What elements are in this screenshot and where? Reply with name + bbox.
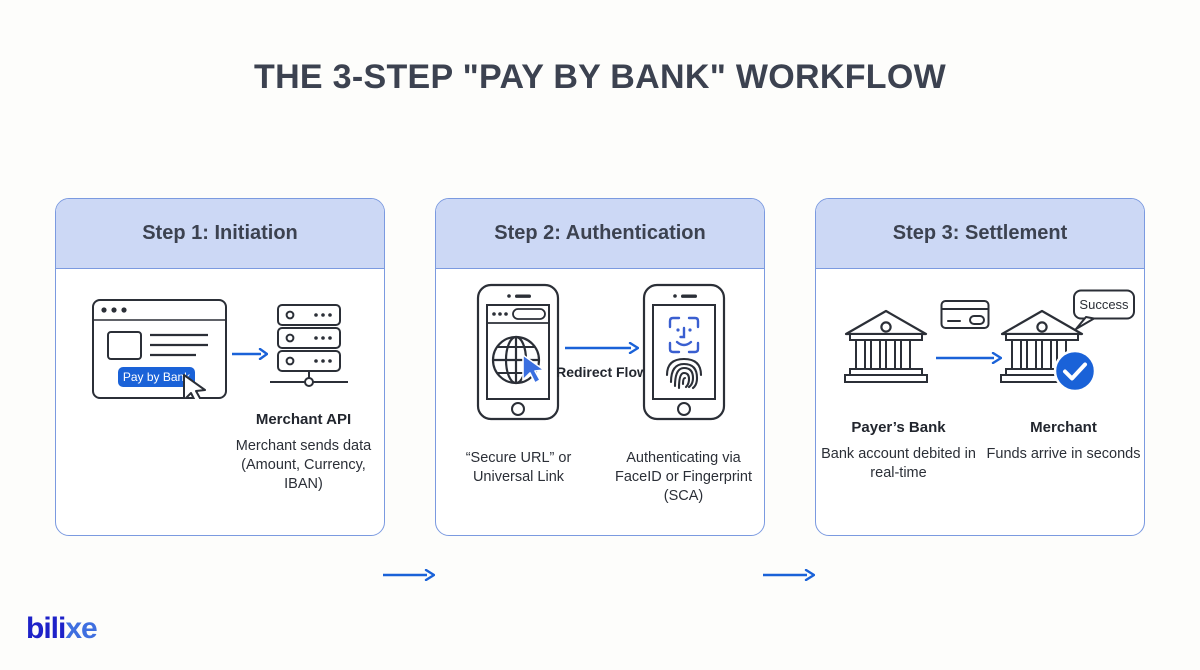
merchant-caption: Funds arrive in seconds	[981, 445, 1145, 464]
redirect-flow-label: Redirect Flow	[556, 364, 648, 382]
payer-bank-label: Payer’s Bank	[816, 419, 981, 436]
authentication-caption: Authenticating via FaceID or Fingerprint…	[601, 449, 765, 506]
pay-by-bank-button-label: Pay by Bank	[123, 370, 191, 384]
connector-arrow-1	[383, 568, 435, 580]
step-2-header: Step 2: Authentication	[436, 199, 764, 269]
step-1-flow-arrow	[232, 347, 268, 365]
logo-part-secondary: xe	[65, 612, 96, 645]
server-stack-icon	[266, 303, 352, 396]
step-panel-3: Step 3: Settlement	[815, 198, 1145, 536]
step-1-header: Step 1: Initiation	[56, 199, 384, 269]
check-circle-icon	[1053, 349, 1097, 398]
step-panel-1: Step 1: Initiation	[55, 198, 385, 536]
connector-arrow-2	[763, 568, 815, 580]
step-2-body: Redirect Flow	[436, 269, 764, 535]
browser-window-illustration: Pay by Bank	[92, 299, 227, 404]
browser-dots-icon	[101, 307, 126, 312]
step-1-title: Step 1: Initiation	[142, 222, 298, 245]
merchant-api-label: Merchant API	[221, 411, 385, 428]
step-1-body: Pay by Bank	[56, 269, 384, 535]
logo-part-primary: bili	[26, 612, 65, 645]
step-panel-2: Step 2: Authentication	[435, 198, 765, 536]
success-bubble: Success	[1064, 289, 1136, 336]
infographic-canvas: THE 3-STEP "PAY BY BANK" WORKFLOW Step 1…	[0, 0, 1200, 670]
merchant-api-caption: Merchant sends data (Amount, Currency, I…	[221, 437, 385, 494]
step-3-flow-arrow	[936, 351, 1002, 369]
payer-bank-icon	[842, 307, 930, 392]
step-3-header: Step 3: Settlement	[816, 199, 1144, 269]
success-bubble-text: Success	[1079, 297, 1129, 312]
page-title: THE 3-STEP "PAY BY BANK" WORKFLOW	[0, 58, 1200, 97]
step-3-body: Success Payer’s Ba	[816, 269, 1144, 535]
phone-biometric-icon	[642, 283, 726, 426]
redirect-flow-group: Redirect Flow	[556, 341, 648, 382]
phone-globe-icon	[476, 283, 560, 426]
step-2-title: Step 2: Authentication	[494, 222, 705, 245]
credit-card-icon	[940, 297, 990, 336]
payer-bank-caption: Bank account debited in real-time	[816, 445, 981, 483]
step-3-title: Step 3: Settlement	[893, 222, 1067, 245]
redirect-arrow-icon	[565, 342, 639, 354]
steps-container: Step 1: Initiation	[0, 198, 1200, 538]
brand-logo: bilixe	[26, 612, 97, 646]
secure-url-caption: “Secure URL” or Universal Link	[436, 449, 601, 487]
merchant-label: Merchant	[981, 419, 1145, 436]
